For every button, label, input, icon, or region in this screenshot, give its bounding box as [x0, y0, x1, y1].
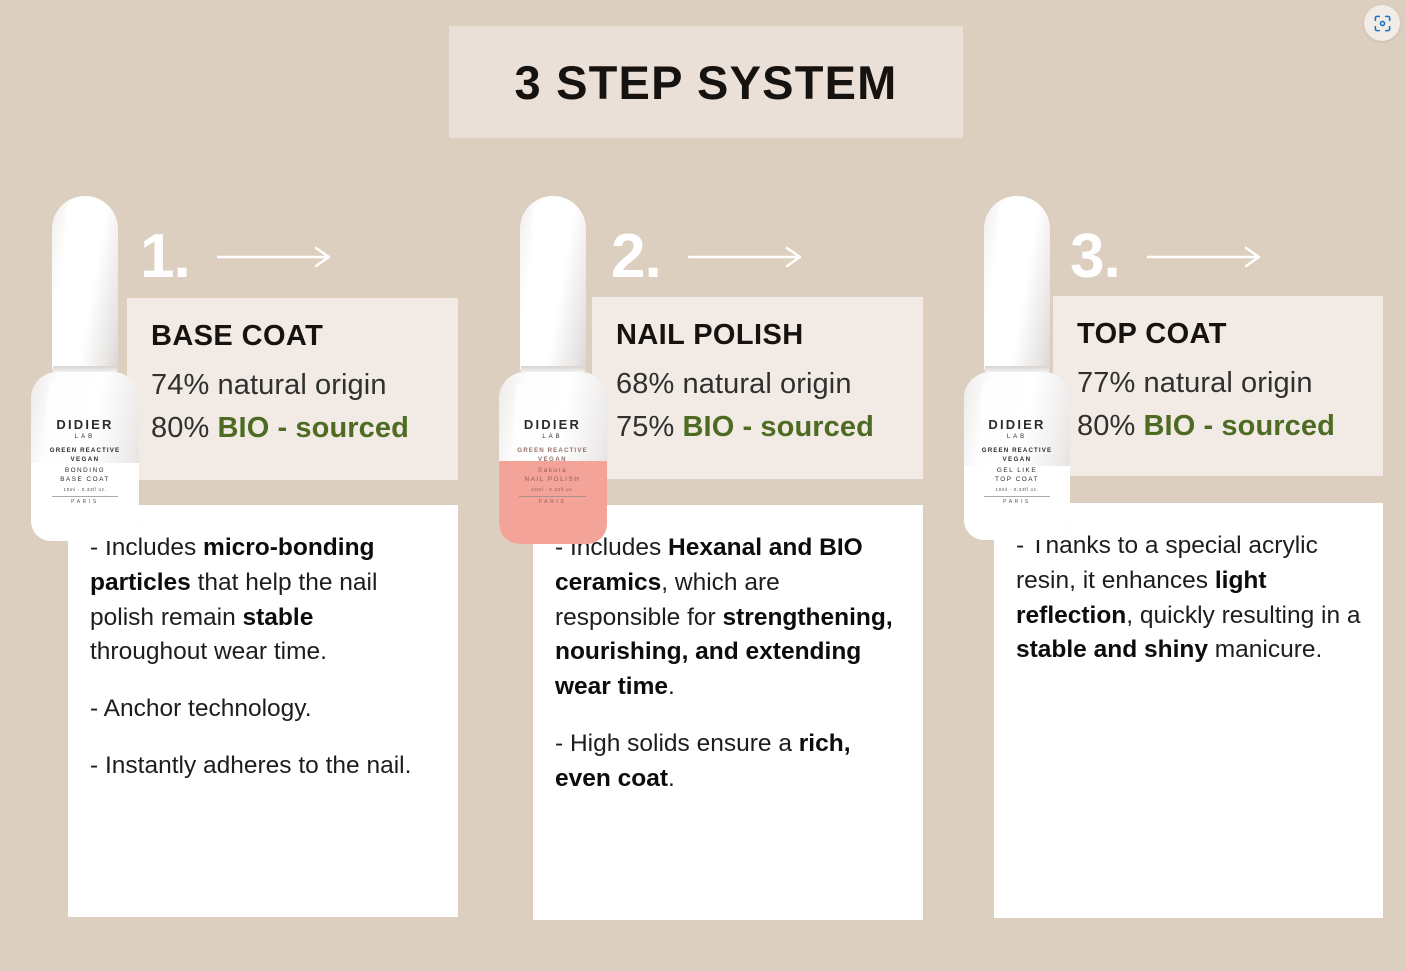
bio-prefix-1: 80% [151, 412, 218, 444]
bottle-gloss-3 [979, 382, 994, 459]
product-bottle-2: DIDIER LAB GREEN REACTIVE VEGAN Sakura N… [495, 196, 610, 546]
step-number-3: 3. [1070, 226, 1120, 288]
bottle-jar-1: DIDIER LAB GREEN REACTIVE VEGAN BONDING … [31, 372, 139, 541]
bullet-item: - High solids ensure a rich, even coat. [555, 727, 901, 797]
step-body-card-2: - Includes Hexanal and BIO ceramics, whi… [533, 505, 923, 920]
step-header-panel-2: NAIL POLISH 68% natural origin 75% BIO -… [592, 297, 923, 479]
bio-sourced-1: 80% BIO - sourced [151, 412, 458, 445]
visual-search-button[interactable] [1364, 5, 1400, 41]
bottle-fill-3 [964, 466, 1070, 540]
natural-origin-1: 74% natural origin [151, 369, 458, 402]
bullet-item: - Includes micro-bonding particles that … [90, 531, 436, 670]
natural-origin-2: 68% natural origin [616, 368, 923, 401]
step-title-2: NAIL POLISH [616, 319, 923, 352]
bottle-cap-1 [52, 196, 118, 372]
step-indicator-3: 3. [1070, 226, 1266, 288]
arrow-right-icon [1146, 244, 1266, 270]
bottle-fill-2 [499, 461, 607, 544]
step-column-2: 2. NAIL POLISH 68% natural origin 75% BI… [465, 0, 935, 971]
infographic-canvas: 3 STEP SYSTEM 1. BASE COAT 74% natural o… [0, 0, 1406, 971]
bottle-jar-2: DIDIER LAB GREEN REACTIVE VEGAN Sakura N… [499, 372, 607, 544]
bullet-item: - Thanks to a special acrylic resin, it … [1016, 529, 1361, 668]
bottle-fill-1 [31, 463, 139, 541]
bio-label-1: BIO - sourced [218, 412, 409, 444]
bullet-list-1: - Includes micro-bonding particles that … [90, 531, 436, 784]
arrow-right-icon [216, 244, 336, 270]
bottle-line1-3: GREEN REACTIVE [982, 447, 1052, 454]
bottle-cap-3 [984, 196, 1050, 372]
visual-search-icon [1373, 14, 1392, 33]
bottle-brand-2: DIDIER [524, 417, 581, 432]
bottle-brand-3: DIDIER [988, 417, 1045, 432]
bio-prefix-2: 75% [616, 411, 683, 443]
step-column-3: 3. TOP COAT 77% natural origin 80% BIO -… [930, 0, 1406, 971]
product-bottle-3: DIDIER LAB GREEN REACTIVE VEGAN GEL LIKE… [962, 196, 1072, 541]
bottle-line1-1: GREEN REACTIVE [50, 447, 120, 454]
bullet-list-3: - Thanks to a special acrylic resin, it … [1016, 529, 1361, 668]
step-header-panel-1: BASE COAT 74% natural origin 80% BIO - s… [127, 298, 458, 480]
bottle-brand-1: DIDIER [56, 417, 113, 432]
step-title-1: BASE COAT [151, 320, 458, 353]
bottle-lab-1: LAB [75, 434, 95, 440]
arrow-right-icon [687, 244, 807, 270]
step-title-3: TOP COAT [1077, 318, 1383, 351]
bio-prefix-3: 80% [1077, 410, 1144, 442]
step-indicator-2: 2. [611, 226, 807, 288]
step-indicator-1: 1. [140, 226, 336, 288]
bio-sourced-3: 80% BIO - sourced [1077, 410, 1383, 443]
step-column-1: 1. BASE COAT 74% natural origin 80% BIO … [0, 0, 470, 971]
bottle-line1-2: GREEN REACTIVE [517, 447, 587, 454]
natural-origin-3: 77% natural origin [1077, 367, 1383, 400]
bottle-gloss-2 [514, 382, 529, 461]
bullet-item: - Instantly adheres to the nail. [90, 749, 436, 784]
step-number-1: 1. [140, 226, 190, 288]
bottle-jar-3: DIDIER LAB GREEN REACTIVE VEGAN GEL LIKE… [964, 372, 1070, 540]
step-number-2: 2. [611, 226, 661, 288]
bottle-lab-3: LAB [1007, 434, 1027, 440]
bottle-cap-2 [520, 196, 586, 372]
bullet-item: - Anchor technology. [90, 692, 436, 727]
bio-label-2: BIO - sourced [683, 411, 874, 443]
step-body-card-3: - Thanks to a special acrylic resin, it … [994, 503, 1383, 918]
bullet-list-2: - Includes Hexanal and BIO ceramics, whi… [555, 531, 901, 796]
bio-sourced-2: 75% BIO - sourced [616, 411, 923, 444]
bottle-line2-3: VEGAN [1002, 456, 1031, 463]
step-header-panel-3: TOP COAT 77% natural origin 80% BIO - so… [1053, 296, 1383, 476]
bullet-item: - Includes Hexanal and BIO ceramics, whi… [555, 531, 901, 705]
product-bottle-1: DIDIER LAB GREEN REACTIVE VEGAN BONDING … [30, 196, 140, 541]
bottle-lab-2: LAB [542, 434, 562, 440]
bottle-gloss-1 [46, 382, 61, 460]
step-body-card-1: - Includes micro-bonding particles that … [68, 505, 458, 917]
bio-label-3: BIO - sourced [1144, 410, 1335, 442]
